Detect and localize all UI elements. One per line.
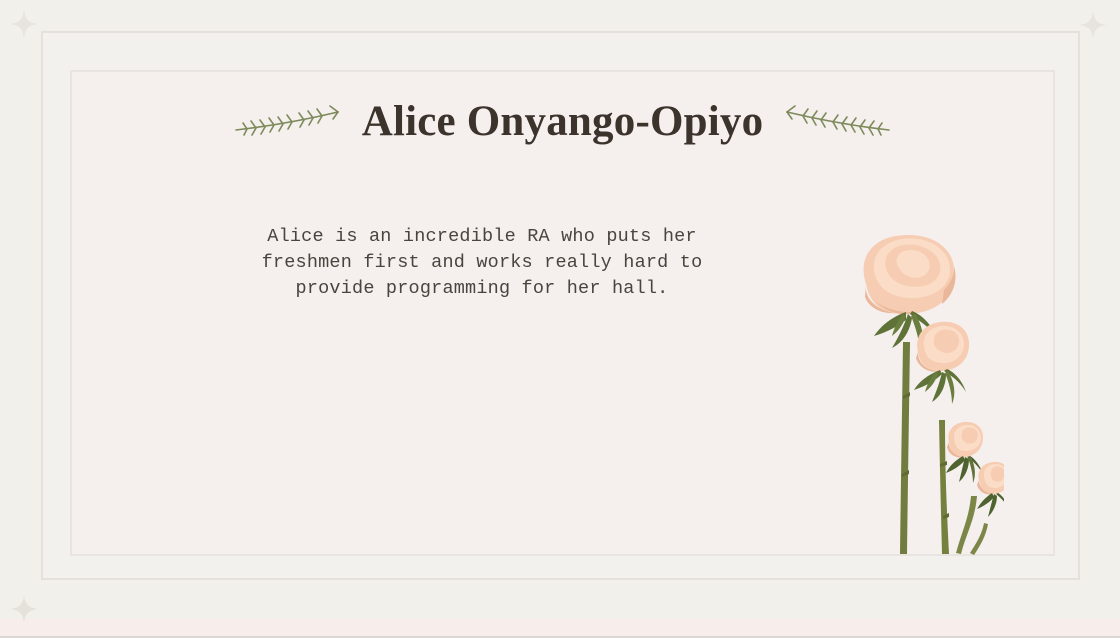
- rose-bud-small-left: [946, 422, 983, 483]
- leaf-branch-icon: [234, 105, 346, 139]
- sparkle-icon: [1078, 10, 1108, 40]
- title-row: Alice Onyango-Opiyo: [72, 100, 1053, 143]
- page-bottom-band: [0, 618, 1120, 638]
- outer-frame: Alice Onyango-Opiyo: [41, 31, 1080, 580]
- rose-bud-small-right: [977, 462, 1004, 517]
- leaf-branch-icon: [779, 105, 891, 139]
- peach-roses-illustration: [814, 224, 1004, 564]
- testimonial-text: Alice is an incredible RA who puts her f…: [252, 224, 712, 302]
- slide-canvas: Alice Onyango-Opiyo: [0, 0, 1120, 638]
- page-title: Alice Onyango-Opiyo: [362, 100, 764, 143]
- inner-frame: Alice Onyango-Opiyo: [70, 70, 1055, 556]
- rose-bud-medium: [914, 322, 969, 404]
- sparkle-icon: [9, 9, 39, 39]
